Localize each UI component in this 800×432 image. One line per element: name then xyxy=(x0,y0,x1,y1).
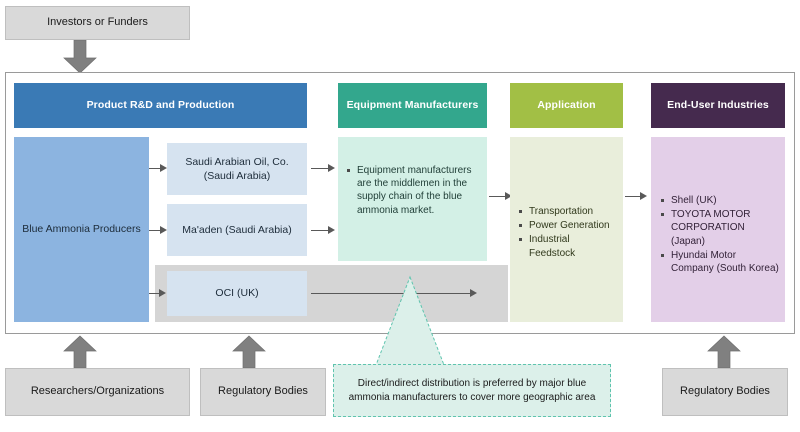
arrow-application-to-end-user-head xyxy=(640,192,647,200)
researchers-organizations-label: Researchers/Organizations xyxy=(31,385,164,399)
producer-company-maaden[interactable]: Ma'aden (Saudi Arabia) xyxy=(167,204,307,256)
application-bullets: Transportation Power Generation Industri… xyxy=(518,205,617,260)
column-header-product-rd-label: Product R&D and Production xyxy=(87,99,235,112)
column-header-product-rd[interactable]: Product R&D and Production xyxy=(14,83,307,128)
regulatory-bodies-left-label: Regulatory Bodies xyxy=(218,385,308,399)
blue-ammonia-producers-label: Blue Ammonia Producers xyxy=(22,222,140,236)
arrow-producers-to-company-2-head xyxy=(160,226,167,234)
arrow-company-2-to-equipment-head xyxy=(328,226,335,234)
producer-company-oci[interactable]: OCI (UK) xyxy=(167,271,307,316)
application-bullet-3: Industrial Feedstock xyxy=(518,233,617,259)
regulatory-bodies-left-up-arrow-icon xyxy=(231,335,271,369)
equipment-manufacturers-bullets: Equipment manufacturers are the middleme… xyxy=(346,164,478,217)
regulatory-bodies-left-box[interactable]: Regulatory Bodies xyxy=(200,368,326,416)
regulatory-bodies-right-up-arrow-icon xyxy=(706,335,746,369)
distribution-callout-text: Direct/indirect distribution is preferre… xyxy=(344,377,600,405)
regulatory-bodies-right-box[interactable]: Regulatory Bodies xyxy=(662,368,788,416)
equipment-manufacturers-bullet-1: Equipment manufacturers are the middleme… xyxy=(346,164,478,217)
investors-down-arrow-icon xyxy=(62,40,102,74)
column-header-end-user-industries[interactable]: End-User Industries xyxy=(651,83,785,128)
end-user-industries-panel[interactable]: Shell (UK) TOYOTA MOTOR CORPORATION (Jap… xyxy=(651,137,785,322)
arrow-equipment-to-application-line xyxy=(489,196,506,197)
researchers-up-arrow-icon xyxy=(62,335,102,369)
diagram-canvas: Investors or Funders Product R&D and Pro… xyxy=(0,0,800,432)
arrow-producers-to-company-1-head xyxy=(160,164,167,172)
end-user-bullet-shell: Shell (UK) xyxy=(660,194,779,207)
producer-company-saudi-aramco[interactable]: Saudi Arabian Oil, Co. (Saudi Arabia) xyxy=(167,143,307,195)
equipment-manufacturers-panel[interactable]: Equipment manufacturers are the middleme… xyxy=(338,137,487,261)
producer-company-saudi-aramco-label: Saudi Arabian Oil, Co. (Saudi Arabia) xyxy=(175,155,299,183)
arrow-oci-direct-distribution-head xyxy=(470,289,477,297)
distribution-callout[interactable]: Direct/indirect distribution is preferre… xyxy=(333,364,611,417)
column-header-equipment-manufacturers-label: Equipment Manufacturers xyxy=(347,99,479,112)
column-header-application-label: Application xyxy=(537,99,595,112)
end-user-bullet-toyota: TOYOTA MOTOR CORPORATION (Japan) xyxy=(660,208,779,248)
application-bullet-1: Transportation xyxy=(518,205,617,218)
arrow-company-1-to-equipment-line xyxy=(311,168,329,169)
producer-company-maaden-label: Ma'aden (Saudi Arabia) xyxy=(182,223,291,237)
blue-ammonia-producers-box[interactable]: Blue Ammonia Producers xyxy=(14,137,149,322)
arrow-application-to-end-user-line xyxy=(625,196,641,197)
application-bullet-2: Power Generation xyxy=(518,219,617,232)
regulatory-bodies-right-label: Regulatory Bodies xyxy=(680,385,770,399)
column-header-application[interactable]: Application xyxy=(510,83,623,128)
callout-tail-icon xyxy=(375,275,445,367)
researchers-organizations-box[interactable]: Researchers/Organizations xyxy=(5,368,190,416)
end-user-industries-bullets: Shell (UK) TOYOTA MOTOR CORPORATION (Jap… xyxy=(660,194,779,275)
application-panel[interactable]: Transportation Power Generation Industri… xyxy=(510,137,623,322)
end-user-bullet-hyundai: Hyundai Motor Company (South Korea) xyxy=(660,249,779,275)
arrow-company-2-to-equipment-line xyxy=(311,230,329,231)
investors-or-funders-box[interactable]: Investors or Funders xyxy=(5,6,190,40)
arrow-producers-to-company-3-head xyxy=(159,289,166,297)
producer-company-oci-label: OCI (UK) xyxy=(215,286,258,300)
investors-or-funders-label: Investors or Funders xyxy=(47,16,148,30)
column-header-end-user-industries-label: End-User Industries xyxy=(667,99,769,112)
column-header-equipment-manufacturers[interactable]: Equipment Manufacturers xyxy=(338,83,487,128)
arrow-company-1-to-equipment-head xyxy=(328,164,335,172)
